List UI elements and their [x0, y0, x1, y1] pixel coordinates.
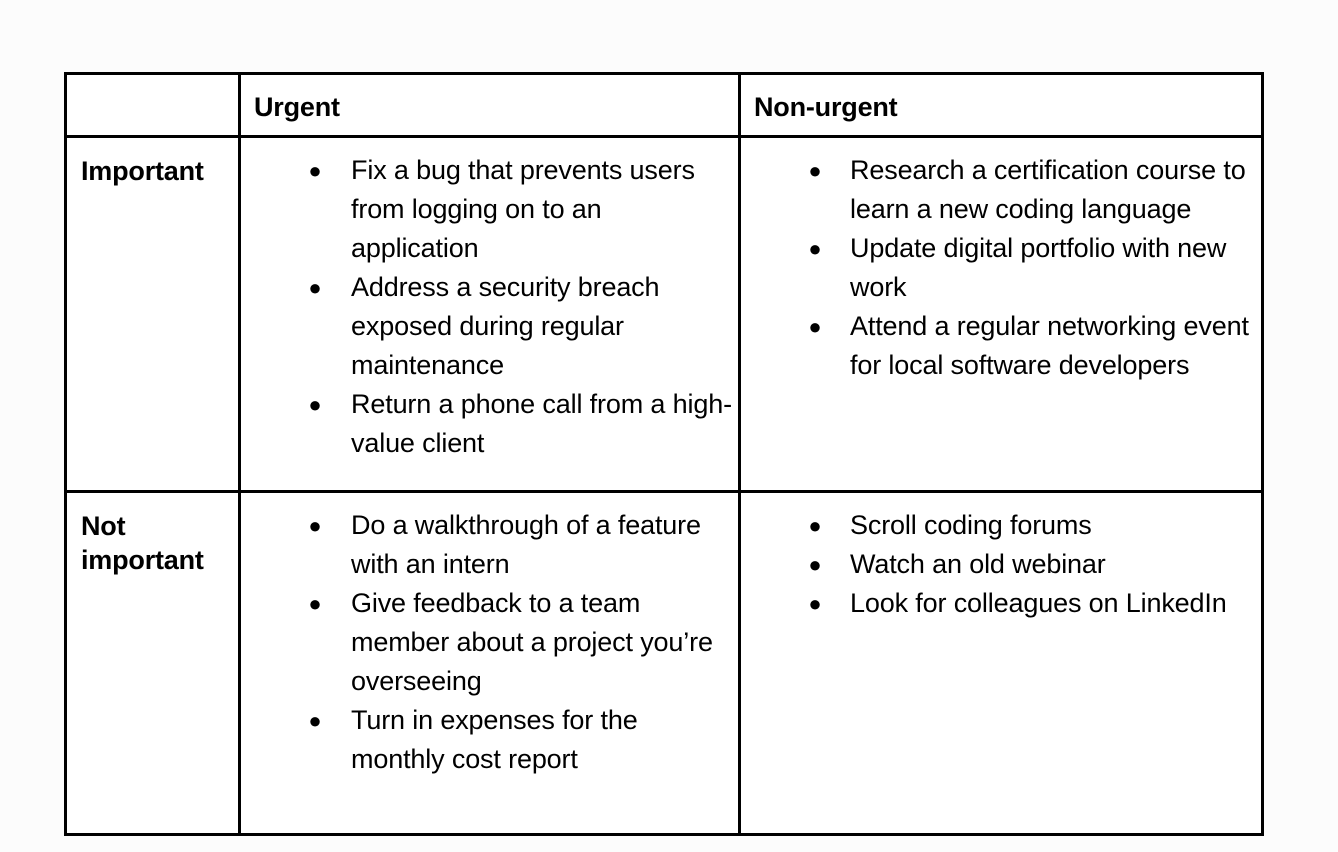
column-header-urgent: Urgent — [241, 75, 738, 124]
corner-label — [67, 75, 238, 91]
bullet-icon: ● — [308, 701, 322, 740]
list-item: ● Do a walkthrough of a feature with an … — [241, 506, 738, 584]
list-item: ● Turn in expenses for the monthly cost … — [241, 701, 738, 779]
list-item: ● Watch an old webinar — [741, 545, 1261, 584]
list-item-text: Research a certification course to learn… — [850, 155, 1246, 224]
bullet-icon: ● — [308, 268, 322, 307]
list-item-text: Scroll coding forums — [850, 510, 1092, 540]
list-item: ● Scroll coding forums — [741, 506, 1261, 545]
list-item: ● Give feedback to a team member about a… — [241, 584, 738, 701]
bullet-icon: ● — [808, 545, 822, 584]
list-item-text: Return a phone call from a high-value cl… — [351, 389, 732, 458]
header-cell-urgent: Urgent — [240, 74, 740, 137]
header-corner-cell — [66, 74, 240, 137]
bullet-icon: ● — [308, 385, 322, 424]
table-row: Not important ● Do a walkthrough of a fe… — [66, 492, 1263, 835]
cell-important-urgent: ● Fix a bug that prevents users from log… — [240, 137, 740, 492]
list-item: ● Address a security breach exposed duri… — [241, 268, 738, 385]
list-item: ● Research a certification course to lea… — [741, 151, 1261, 229]
list-item-text: Update digital portfolio with new work — [850, 233, 1226, 302]
list-item-text: Do a walkthrough of a feature with an in… — [351, 510, 701, 579]
list-item: ● Look for colleagues on LinkedIn — [741, 584, 1261, 623]
list-item-text: Turn in expenses for the monthly cost re… — [351, 705, 638, 774]
task-list-important-urgent: ● Fix a bug that prevents users from log… — [241, 151, 738, 463]
task-list-important-nonurgent: ● Research a certification course to lea… — [741, 151, 1261, 385]
cell-not-important-urgent: ● Do a walkthrough of a feature with an … — [240, 492, 740, 835]
list-item: ● Attend a regular networking event for … — [741, 307, 1261, 385]
bullet-icon: ● — [308, 506, 322, 545]
bullet-icon: ● — [308, 151, 322, 190]
cell-important-nonurgent: ● Research a certification course to lea… — [740, 137, 1263, 492]
list-item: ● Fix a bug that prevents users from log… — [241, 151, 738, 268]
list-item: ● Return a phone call from a high-value … — [241, 385, 738, 463]
list-item-text: Address a security breach exposed during… — [351, 272, 659, 380]
row-label-important: Important — [67, 138, 238, 188]
bullet-icon: ● — [808, 584, 822, 623]
list-item-text: Fix a bug that prevents users from loggi… — [351, 155, 695, 263]
row-label-not-important: Not important — [67, 493, 238, 577]
cell-not-important-nonurgent: ● Scroll coding forums ● Watch an old we… — [740, 492, 1263, 835]
list-item: ● Update digital portfolio with new work — [741, 229, 1261, 307]
list-item-text: Attend a regular networking event for lo… — [850, 311, 1249, 380]
column-header-nonurgent: Non-urgent — [741, 75, 1261, 124]
list-item-text: Give feedback to a team member about a p… — [351, 588, 713, 696]
list-item-text: Look for colleagues on LinkedIn — [850, 588, 1227, 618]
eisenhower-matrix-page: Urgent Non-urgent Important ● Fix a bug … — [0, 0, 1338, 852]
bullet-icon: ● — [808, 506, 822, 545]
task-list-not-important-urgent: ● Do a walkthrough of a feature with an … — [241, 506, 738, 779]
bullet-icon: ● — [808, 151, 822, 190]
table-row: Important ● Fix a bug that prevents user… — [66, 137, 1263, 492]
bullet-icon: ● — [808, 229, 822, 268]
bullet-icon: ● — [808, 307, 822, 346]
bullet-icon: ● — [308, 584, 322, 623]
table-header-row: Urgent Non-urgent — [66, 74, 1263, 137]
row-header-not-important: Not important — [66, 492, 240, 835]
header-cell-nonurgent: Non-urgent — [740, 74, 1263, 137]
list-item-text: Watch an old webinar — [850, 549, 1106, 579]
row-header-important: Important — [66, 137, 240, 492]
priority-matrix-table: Urgent Non-urgent Important ● Fix a bug … — [64, 72, 1264, 836]
task-list-not-important-nonurgent: ● Scroll coding forums ● Watch an old we… — [741, 506, 1261, 623]
